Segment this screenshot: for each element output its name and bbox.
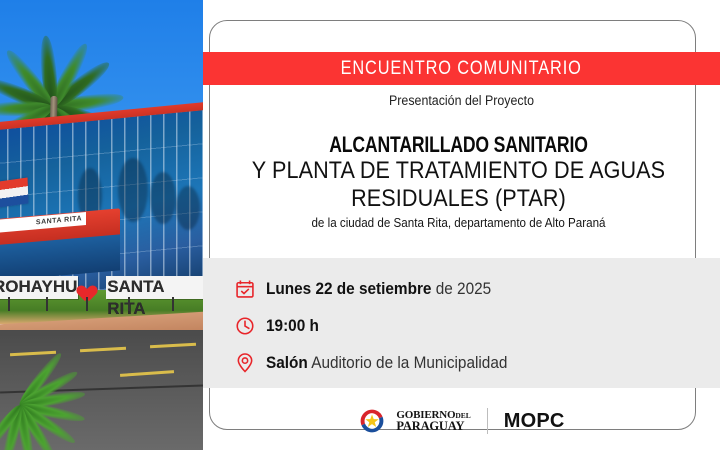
- event-details-band: Lunes 22 de setiembre de 2025 19:00 h: [203, 258, 720, 388]
- gobierno-line2: PARAGUAY: [396, 421, 470, 433]
- project-title-block: ALCANTARILLADO SANITARIO Y PLANTA DE TRA…: [217, 133, 700, 230]
- detail-time-strong: 19:00 h: [266, 317, 319, 335]
- glass-reflection: [150, 172, 176, 224]
- detail-date-rest: de 2025: [431, 280, 491, 298]
- presentation-label: Presentación del Proyecto: [224, 93, 700, 108]
- footer-logos: GOBIERNODEL PARAGUAY MOPC: [203, 398, 720, 444]
- detail-row-time: 19:00 h: [235, 311, 323, 341]
- heart-icon: [82, 278, 102, 297]
- detail-date-text: Lunes 22 de setiembre de 2025: [266, 280, 491, 299]
- flyer-content: ENCUENTRO COMUNITARIO Presentación del P…: [203, 0, 720, 450]
- title-line-1: ALCANTARILLADO SANITARIO: [265, 133, 651, 157]
- sign-text-left: ROHAYHU: [0, 276, 78, 299]
- detail-row-date: Lunes 22 de setiembre de 2025: [235, 274, 508, 304]
- logo-divider: [487, 408, 488, 434]
- paraguay-flag: [0, 178, 28, 209]
- santa-rita-municipality-photo: SANTA RITA ROHAYHU SANTA RITA: [0, 0, 203, 450]
- detail-location-strong: Salón: [266, 354, 308, 372]
- calendar-check-icon: [235, 278, 255, 300]
- banner-title: ENCUENTRO COMUNITARIO: [341, 58, 582, 80]
- sign-text-right: SANTA RITA: [106, 276, 203, 299]
- glass-reflection: [176, 186, 200, 230]
- detail-date-strong: Lunes 22 de setiembre: [266, 280, 431, 298]
- location-pin-icon: [235, 352, 255, 374]
- clock-icon: [235, 315, 255, 337]
- detail-row-location: Salón Auditorio de la Municipalidad: [235, 348, 526, 378]
- gobierno-paraguay-wordmark: GOBIERNODEL PARAGUAY: [396, 410, 470, 433]
- title-line-3: RESIDUALES (PTAR): [241, 185, 676, 213]
- detail-location-text: Salón Auditorio de la Municipalidad: [266, 354, 507, 373]
- mopc-logo: MOPC: [504, 410, 565, 433]
- title-line-2: Y PLANTA DE TRATAMIENTO DE AGUAS: [241, 157, 676, 185]
- glass-reflection: [118, 158, 148, 222]
- event-flyer: SANTA RITA ROHAYHU SANTA RITA: [0, 0, 720, 450]
- detail-time-text: 19:00 h: [266, 317, 319, 336]
- detail-location-rest: Auditorio de la Municipalidad: [308, 354, 508, 372]
- paraguay-government-seal-icon: [358, 407, 386, 435]
- encuentro-comunitario-banner: ENCUENTRO COMUNITARIO: [203, 52, 720, 85]
- foreground-bush: [0, 350, 100, 450]
- title-subtitle: de la ciudad de Santa Rita, departamento…: [234, 216, 683, 230]
